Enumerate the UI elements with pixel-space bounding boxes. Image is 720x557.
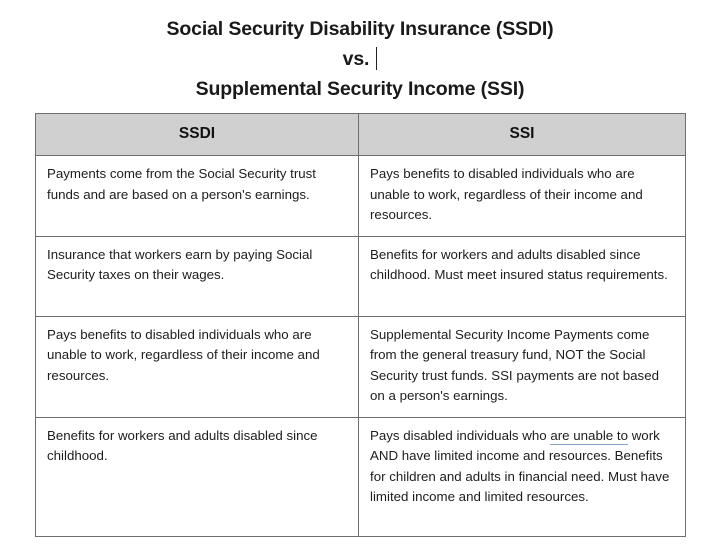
title-line-2: vs. [0,44,720,74]
cell-ssi-4-text-before: Pays disabled individuals who [370,428,550,443]
table-row: Pays benefits to disabled individuals wh… [36,316,686,417]
cell-ssi-1[interactable]: Pays benefits to disabled individuals wh… [359,156,686,237]
table-header-row: SSDI SSI [36,114,686,156]
cell-ssdi-4[interactable]: Benefits for workers and adults disabled… [36,417,359,536]
column-header-ssi: SSI [359,114,686,156]
document-page: Social Security Disability Insurance (SS… [0,0,720,557]
title-line-2-text: vs. [343,48,370,70]
column-header-ssdi: SSDI [36,114,359,156]
cell-ssi-4[interactable]: Pays disabled individuals who are unable… [359,417,686,536]
title-line-1: Social Security Disability Insurance (SS… [0,14,720,44]
cell-ssi-2[interactable]: Benefits for workers and adults disabled… [359,236,686,316]
title-line-3: Supplemental Security Income (SSI) [0,74,720,104]
table-row: Payments come from the Social Security t… [36,156,686,237]
table-row: Benefits for workers and adults disabled… [36,417,686,536]
cell-ssi-3[interactable]: Supplemental Security Income Payments co… [359,316,686,417]
cell-ssdi-2[interactable]: Insurance that workers earn by paying So… [36,236,359,316]
table-row: Insurance that workers earn by paying So… [36,236,686,316]
grammar-suggestion-underline[interactable]: are unable to [550,428,628,445]
cell-ssdi-3[interactable]: Pays benefits to disabled individuals wh… [36,316,359,417]
cell-ssdi-1[interactable]: Payments come from the Social Security t… [36,156,359,237]
comparison-table: SSDI SSI Payments come from the Social S… [35,113,686,537]
document-title: Social Security Disability Insurance (SS… [0,14,720,104]
text-cursor-caret [376,47,377,70]
